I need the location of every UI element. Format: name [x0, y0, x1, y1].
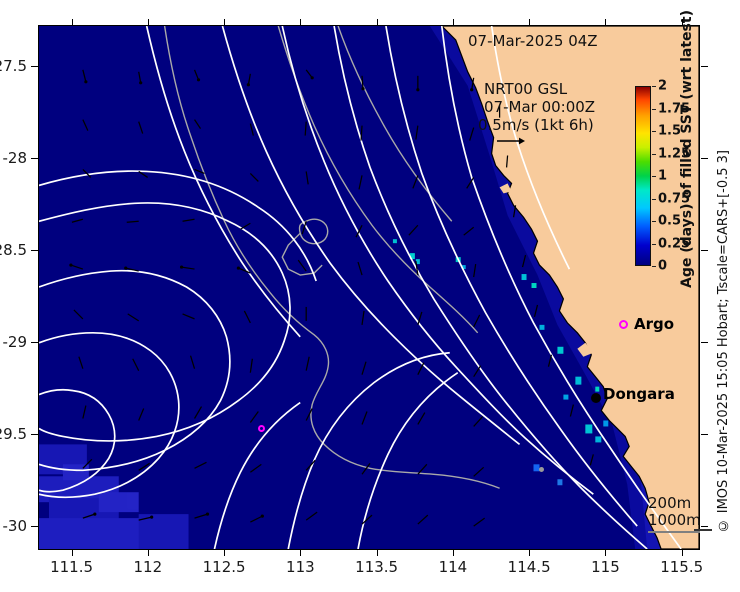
source-model-label: NRT00 GSL — [484, 80, 567, 98]
figure-root: 07-Mar-2025 04Z NRT00 GSL 07-Mar 00:00Z … — [0, 0, 740, 592]
y-tick-label: -29 — [3, 333, 28, 351]
y-tick-mark — [31, 342, 38, 343]
colorbar-tick-mark — [652, 199, 656, 200]
x-tick-mark-top — [453, 19, 454, 25]
y-tick-mark-right — [701, 526, 708, 527]
x-tick-mark-top — [682, 19, 683, 25]
colorbar[interactable]: 21.751.51.2510.750.50.250 — [635, 86, 651, 266]
source-time-label: 07-Mar 00:00Z — [484, 98, 595, 116]
depth-200m-line — [648, 531, 700, 533]
depth-200m-label: 200m — [648, 495, 701, 512]
colorbar-tick-label: 1.5 — [658, 124, 681, 139]
colorbar-tick-label: 0.5 — [658, 214, 681, 229]
y-tick-mark-right — [701, 66, 708, 67]
x-tick-mark — [605, 550, 606, 556]
colorbar-title: Age (days) of filled SST (wrt latest) — [679, 28, 697, 288]
y-tick-mark — [31, 526, 38, 527]
x-tick-mark-top — [72, 19, 73, 25]
x-tick-mark — [300, 550, 301, 556]
x-tick-label: 113 — [286, 558, 315, 576]
x-tick-label: 115 — [591, 558, 620, 576]
x-tick-mark — [224, 550, 225, 556]
y-tick-mark-right — [701, 250, 708, 251]
colorbar-tick-mark — [652, 154, 656, 155]
x-tick-mark — [529, 550, 530, 556]
y-tick-mark — [31, 66, 38, 67]
x-tick-label: 114 — [439, 558, 468, 576]
colorbar-tick-label: 1 — [658, 169, 667, 184]
y-tick-label: -28.5 — [0, 241, 27, 259]
x-tick-mark-top — [224, 19, 225, 25]
y-tick-label: -29.5 — [0, 425, 27, 443]
date-stamp: 07-Mar-2025 04Z — [468, 32, 598, 50]
x-tick-mark-top — [605, 19, 606, 25]
argo-legend-marker[interactable] — [619, 320, 628, 329]
colorbar-tick-label: 0 — [658, 259, 667, 274]
x-tick-label: 113.5 — [355, 558, 398, 576]
x-tick-mark — [453, 550, 454, 556]
colorbar-tick-mark — [652, 176, 656, 177]
colorbar-tick-mark — [652, 266, 656, 267]
y-tick-mark-right — [701, 158, 708, 159]
credit-text: © IMOS 10-Mar-2025 15:05 Hobart; Tscale=… — [716, 150, 731, 532]
x-tick-label: 115.5 — [660, 558, 703, 576]
dongara-label: Dongara — [603, 385, 675, 403]
y-tick-label: -27.5 — [0, 57, 27, 75]
colorbar-tick-label: 2 — [658, 79, 667, 94]
colorbar-tick-mark — [652, 86, 656, 87]
x-tick-mark-top — [300, 19, 301, 25]
argo-label: Argo — [634, 315, 674, 333]
x-tick-mark-top — [377, 19, 378, 25]
dongara-marker[interactable] — [591, 393, 601, 403]
colorbar-tick-mark — [652, 109, 656, 110]
y-tick-mark-right — [701, 434, 708, 435]
colorbar-tick-mark — [652, 244, 656, 245]
right-arrow-icon — [497, 136, 525, 146]
x-tick-mark — [72, 550, 73, 556]
x-tick-label: 111.5 — [50, 558, 93, 576]
colorbar-tick-mark — [652, 221, 656, 222]
x-tick-label: 112.5 — [203, 558, 246, 576]
x-tick-label: 114.5 — [508, 558, 551, 576]
depth-1000m-label: 1000m — [648, 512, 701, 529]
argo-float-marker-ocean[interactable] — [258, 425, 265, 432]
x-tick-mark-top — [529, 19, 530, 25]
x-tick-mark — [377, 550, 378, 556]
colorbar-gradient — [635, 86, 651, 266]
y-tick-mark — [31, 158, 38, 159]
depth-contour-legend: 200m 1000m — [648, 495, 701, 529]
x-tick-mark — [148, 550, 149, 556]
map-canvas — [39, 26, 699, 549]
y-tick-mark — [31, 250, 38, 251]
map-plot-area — [38, 25, 700, 550]
observation-dot-1 — [539, 467, 544, 472]
y-tick-mark — [31, 434, 38, 435]
depth-1000m-line — [694, 529, 712, 531]
y-tick-label: -30 — [3, 517, 28, 535]
y-tick-label: -28 — [3, 149, 28, 167]
x-tick-mark — [682, 550, 683, 556]
x-tick-mark-top — [148, 19, 149, 25]
y-tick-mark-right — [701, 342, 708, 343]
vector-scale-label: 0.5m/s (1kt 6h) — [478, 116, 594, 134]
colorbar-tick-mark — [652, 131, 656, 132]
x-tick-label: 112 — [133, 558, 162, 576]
